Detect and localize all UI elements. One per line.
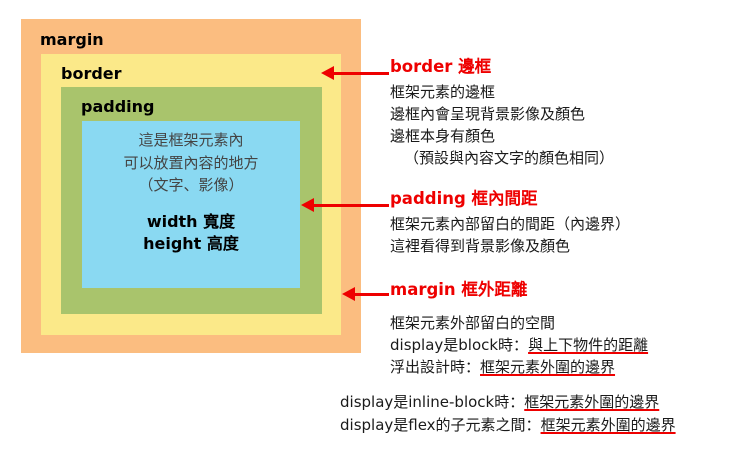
annotation-inline-block-emphasis: 框架元素外圍的邊界: [524, 393, 659, 411]
annotation-border-line-2: 邊框內會呈現背景影像及顏色: [390, 104, 614, 126]
annotation-inline-block-prefix: display是inline-block時：: [340, 393, 524, 411]
annotation-inline-block: display是inline-block時：框架元素外圍的邊界: [340, 391, 750, 414]
border-layer-label: border: [61, 66, 122, 82]
content-width-label: width 寬度: [143, 211, 239, 234]
border-layer: border padding 這是框架元素內 可以放置內容的地方 （文字、影像）…: [41, 54, 341, 335]
padding-layer: padding 這是框架元素內 可以放置內容的地方 （文字、影像） width …: [61, 87, 322, 314]
content-text-line-1: 這是框架元素內: [138, 129, 243, 152]
annotation-flex-children: display是flex的子元素之間：框架元素外圍的邊界: [340, 414, 750, 437]
padding-pointer-arrow-icon: [301, 198, 389, 212]
arrow-shaft: [328, 72, 389, 75]
border-pointer-arrow-icon: [321, 66, 389, 80]
annotation-border-title: border 邊框: [390, 58, 614, 76]
margin-layer: margin border padding 這是框架元素內 可以放置內容的地方 …: [21, 19, 361, 353]
content-text-line-3: （文字、影像）: [138, 174, 243, 197]
annotation-padding-title: padding 框內間距: [390, 190, 630, 208]
annotation-flex-children-emphasis: 框架元素外圍的邊界: [541, 416, 676, 434]
annotation-flex-children-prefix: display是flex的子元素之間：: [340, 416, 541, 434]
annotation-padding-line-1: 框架元素內部留白的間距（內邊界）: [390, 214, 630, 236]
arrow-shaft: [308, 204, 389, 207]
annotation-border-line-1: 框架元素的邊框: [390, 82, 614, 104]
annotation-extra: display是inline-block時：框架元素外圍的邊界 display是…: [340, 391, 750, 436]
annotation-border-line-3: 邊框本身有顏色: [390, 126, 614, 148]
annotation-margin-float: 浮出設計時：框架元素外圍的邊界: [390, 357, 648, 379]
annotation-margin-float-prefix: 浮出設計時：: [390, 358, 480, 376]
margin-pointer-arrow-icon: [342, 287, 389, 301]
annotation-padding: padding 框內間距 框架元素內部留白的間距（內邊界） 這裡看得到背景影像及…: [390, 190, 630, 258]
annotation-border: border 邊框 框架元素的邊框 邊框內會呈現背景影像及顏色 邊框本身有顏色 …: [390, 58, 614, 170]
padding-layer-label: padding: [81, 99, 154, 115]
annotation-margin-display-block: display是block時：與上下物件的距離: [390, 335, 648, 357]
annotation-border-line-4: （預設與內容文字的顏色相同）: [390, 148, 614, 170]
annotation-margin-title: margin 框外距離: [390, 281, 648, 299]
margin-layer-label: margin: [40, 32, 104, 48]
annotation-margin-display-block-emphasis: 與上下物件的距離: [528, 336, 648, 354]
content-height-label: height 高度: [143, 233, 239, 256]
annotation-padding-line-2: 這裡看得到背景影像及顏色: [390, 236, 630, 258]
annotation-margin-display-block-prefix: display是block時：: [390, 336, 528, 354]
annotation-margin-float-emphasis: 框架元素外圍的邊界: [480, 358, 615, 376]
annotations-column: border 邊框 框架元素的邊框 邊框內會呈現背景影像及顏色 邊框本身有顏色 …: [390, 0, 750, 461]
annotation-margin: margin 框外距離 框架元素外部留白的空間 display是block時：與…: [390, 281, 648, 379]
box-model-diagram: margin border padding 這是框架元素內 可以放置內容的地方 …: [21, 19, 361, 353]
content-dimensions: width 寬度 height 高度: [143, 211, 239, 256]
content-layer: 這是框架元素內 可以放置內容的地方 （文字、影像） width 寬度 heigh…: [82, 121, 300, 288]
arrow-shaft: [349, 293, 389, 296]
annotation-margin-line-1: 框架元素外部留白的空間: [390, 313, 648, 335]
content-text-line-2: 可以放置內容的地方: [123, 152, 258, 175]
